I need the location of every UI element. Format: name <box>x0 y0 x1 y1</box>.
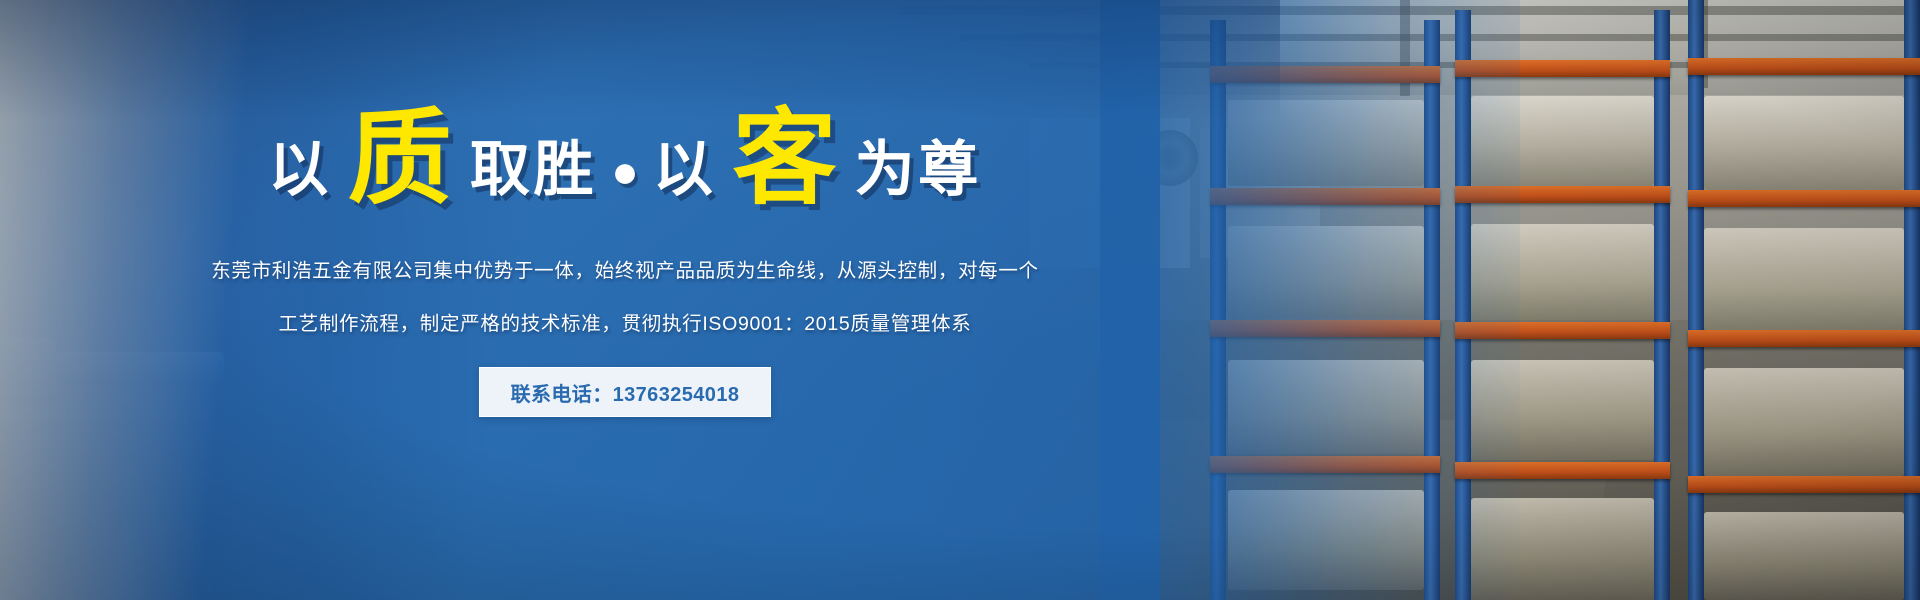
headline-char-yi-2: 以 <box>653 140 717 200</box>
headline-char-yi-1: 以 <box>268 140 332 200</box>
banner-content: 以 质 取胜 ● 以 客 为尊 东莞市利浩五金有限公司集中优势于一体，始终视产品… <box>0 0 1250 600</box>
hero-banner: 以 质 取胜 ● 以 客 为尊 东莞市利浩五金有限公司集中优势于一体，始终视产品… <box>0 0 1920 600</box>
headline-char-ke: 客 <box>733 107 839 211</box>
contact-phone-label: 联系电话：13763254018 <box>511 378 740 407</box>
subtitle-line-2: 工艺制作流程，制定严格的技术标准，贯彻执行ISO9001：2015质量管理体系 <box>279 307 972 336</box>
headline-char-zhi: 质 <box>348 107 454 211</box>
headline: 以 质 取胜 ● 以 客 为尊 <box>268 103 982 207</box>
headline-word-weizun: 为尊 <box>855 140 982 200</box>
subtitle-line-1: 东莞市利浩五金有限公司集中优势于一体，始终视产品品质为生命线，从源头控制，对每一… <box>211 254 1038 283</box>
headline-word-qusheng: 取胜 <box>470 140 597 200</box>
headline-bullet-dot: ● <box>597 148 653 194</box>
contact-phone-box[interactable]: 联系电话：13763254018 <box>479 367 772 417</box>
